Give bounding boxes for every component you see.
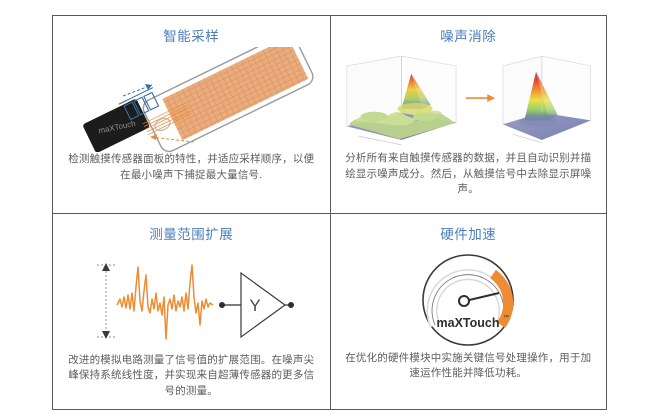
phone-sensor-chip-svg: maXTouch — [66, 47, 316, 152]
feature-body-hardware-acceleration: 在优化的硬件模块中实施关键信号处理操作，用于加速运作性能并降低功耗。 — [341, 351, 597, 384]
illustration-speedometer: maXTouch ™ — [341, 249, 597, 351]
feature-title-hardware-acceleration: 硬件加速 — [440, 226, 496, 243]
waveform-amplifier-svg: Y — [89, 253, 294, 353]
signal-waveform — [117, 265, 213, 339]
feature-title-smart-sampling: 智能采样 — [163, 28, 219, 45]
slide-canvas: 智能采样 — [0, 0, 651, 418]
illustration-noise-surface-plots — [341, 51, 597, 151]
range-indicator — [97, 265, 115, 337]
illustration-phone-touch-sensor: maXTouch — [63, 47, 320, 152]
surface-plot-noisy — [346, 56, 455, 145]
feature-title-measurement-range: 测量范围扩展 — [149, 226, 233, 243]
transform-arrow — [465, 94, 494, 102]
surface-plots-svg — [341, 51, 597, 151]
feature-body-measurement-range: 改进的模拟电路测量了信号值的扩展范围。在噪声尖峰保持系统线性度，并实现来自超薄传… — [63, 353, 320, 402]
feature-cell-measurement-range[interactable]: 测量范围扩展 — [53, 213, 330, 410]
feature-grid: 智能采样 — [52, 15, 607, 410]
feature-body-noise-cancellation: 分析所有来自触摸传感器的数据，并且自动识别并描绘显示噪声成分。然后，从触摸信号中… — [341, 151, 597, 200]
gauge-brand-tm: ™ — [503, 314, 509, 321]
illustration-waveform-amplifier: Y — [63, 253, 320, 353]
feature-body-smart-sampling: 检测触摸传感器面板的特性，并适应采样顺序，以便在最小噪声下捕捉最大量信号. — [63, 152, 320, 185]
surface-plot-clean — [502, 56, 590, 143]
gauge-brand-label: maXTouch — [437, 316, 500, 330]
speedometer-gauge-svg: maXTouch ™ — [413, 249, 523, 351]
amplifier-triangle — [241, 273, 285, 337]
feature-cell-smart-sampling[interactable]: 智能采样 — [53, 16, 330, 213]
feature-cell-hardware-acceleration[interactable]: 硬件加速 maXTouch — [330, 213, 607, 410]
amplifier-label: Y — [249, 296, 260, 315]
feature-cell-noise-cancellation[interactable]: 噪声消除 — [330, 16, 607, 213]
feature-title-noise-cancellation: 噪声消除 — [440, 28, 496, 45]
